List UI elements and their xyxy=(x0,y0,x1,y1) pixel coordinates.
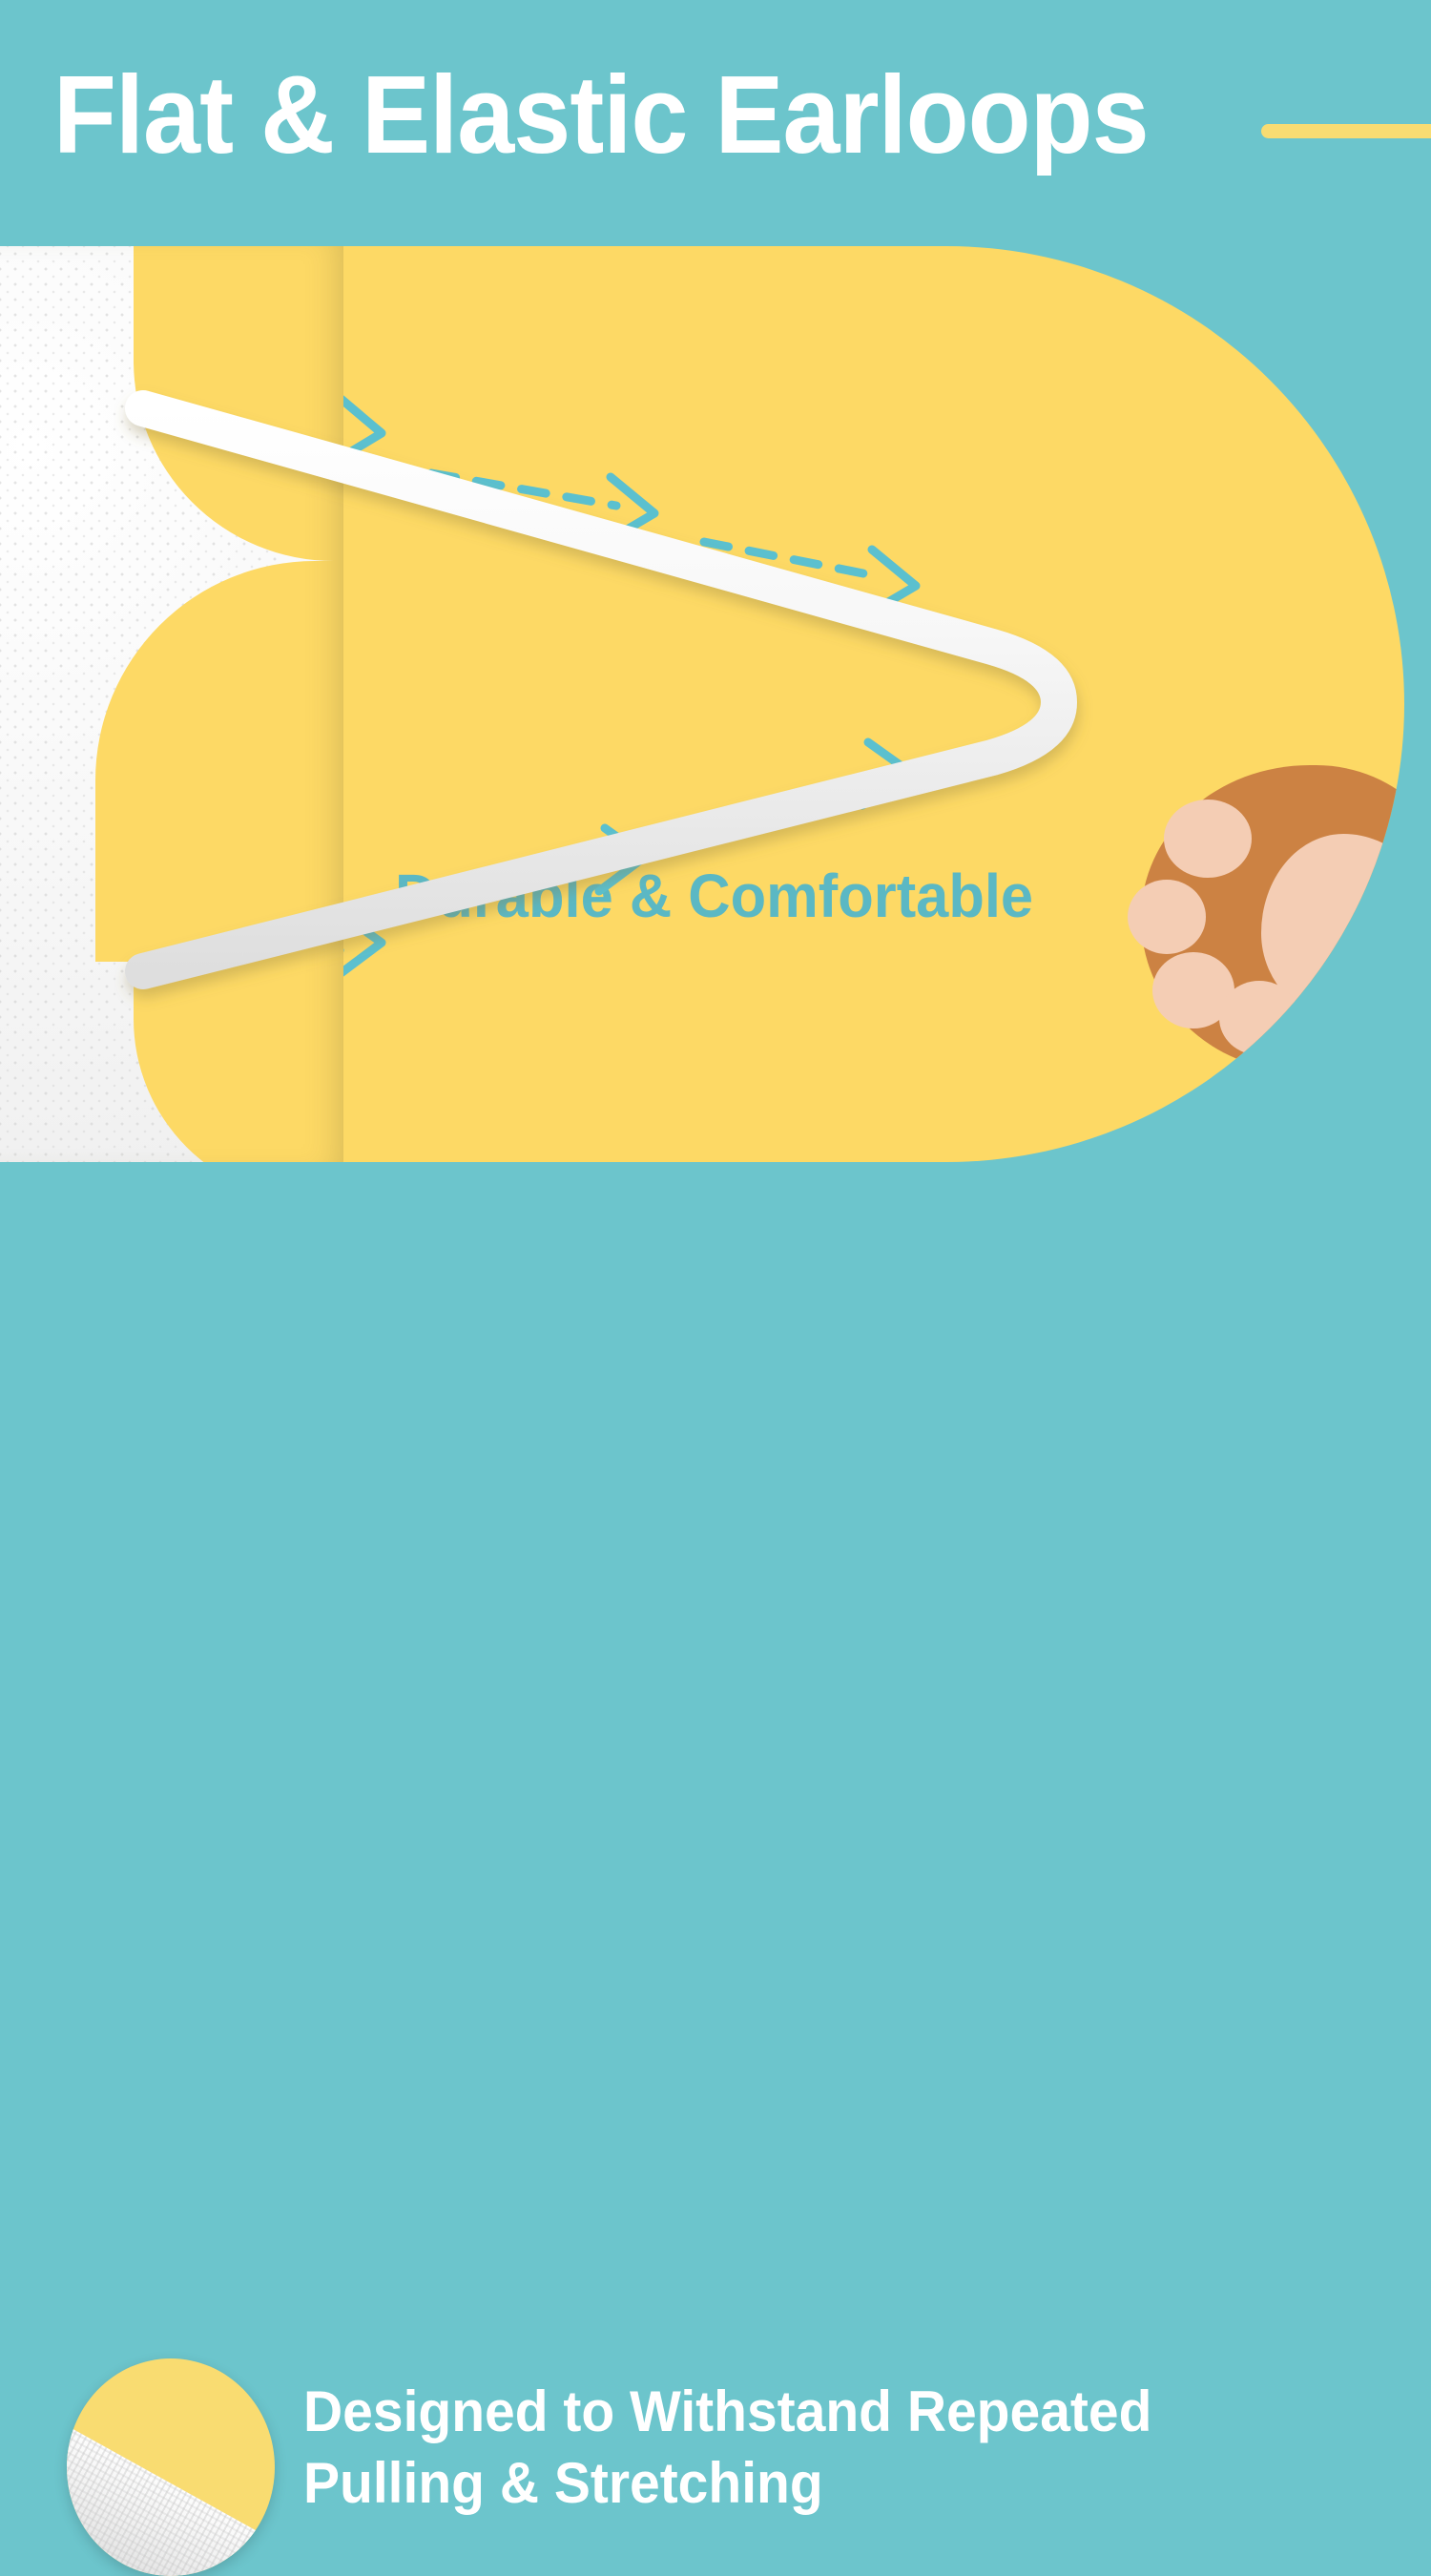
stretch-arrow-top-2 xyxy=(431,473,654,538)
header-band: Flat & Elastic Earloops xyxy=(0,0,1431,246)
badge-strap-photo xyxy=(67,2383,275,2576)
earloop-closeup-badge xyxy=(67,2358,275,2576)
stretch-arrow-bottom-3 xyxy=(706,742,908,817)
accent-rule xyxy=(1261,124,1431,138)
footer-caption: Designed to Withstand Repeated Pulling &… xyxy=(303,2376,1282,2519)
footer-caption-line-1: Designed to Withstand Repeated xyxy=(303,2376,1282,2447)
stretch-arrow-top-3 xyxy=(704,542,916,611)
face-mask-body xyxy=(0,246,343,1162)
footer-band: Designed to Withstand Repeated Pulling &… xyxy=(0,1162,1431,1431)
product-feature-graphic: Flat & Elastic Earloops Durable & Comfor… xyxy=(0,0,1431,1431)
badge-strap-texture xyxy=(67,2383,275,2576)
page-title: Flat & Elastic Earloops xyxy=(53,59,1149,170)
stretch-arrow-bottom-2 xyxy=(424,828,645,903)
footer-caption-line-2: Pulling & Stretching xyxy=(303,2447,1282,2519)
